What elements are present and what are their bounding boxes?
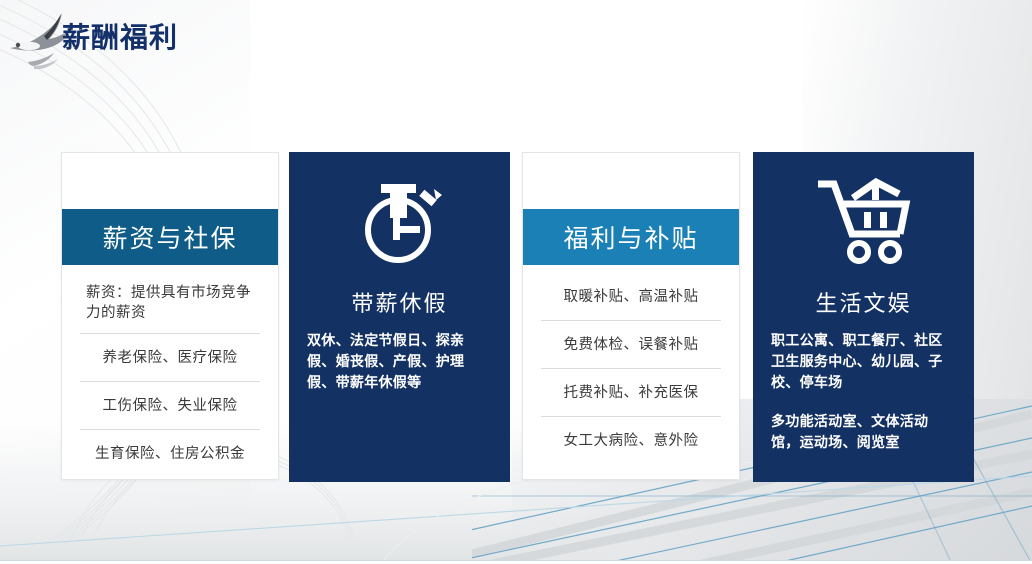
card-paragraph: 双休、法定节假日、探亲假、婚丧假、产假、护理假、带薪年休假等 (307, 330, 492, 393)
card-benefits-subsidies[interactable]: 福利与补贴 取暖补贴、高温补贴 免费体检、误餐补贴 托费补贴、补充医保 女工大病… (522, 152, 740, 480)
card-header-benefits: 福利与补贴 (523, 209, 739, 265)
cards-row: 薪资与社保 薪资：提供具有市场竞争力的薪资 养老保险、医疗保险 工伤保险、失业保… (0, 0, 1032, 564)
list-item: 生育保险、住房公积金 (80, 430, 260, 477)
list-item: 免费体检、误餐补贴 (541, 321, 721, 369)
card-title-paid-leave: 带薪休假 (289, 286, 510, 318)
shopping-cart-icon-wrap (753, 174, 974, 270)
card-life-culture[interactable]: 生活文娱 职工公寓、职工餐厅、社区卫生服务中心、幼儿园、子校、停车场 多功能活动… (753, 152, 974, 482)
list-item: 取暖补贴、高温补贴 (541, 273, 721, 321)
stopwatch-icon (352, 174, 448, 270)
slide-canvas: 薪酬福利 薪资与社保 薪资：提供具有市场竞争力的薪资 养老保险、医疗保险 工伤保… (0, 0, 1032, 564)
shopping-cart-icon (814, 174, 914, 270)
page-title: 薪酬福利 (62, 16, 178, 56)
card-body-life-culture: 职工公寓、职工餐厅、社区卫生服务中心、幼儿园、子校、停车场 多功能活动室、文体活… (753, 330, 974, 453)
list-item: 养老保险、医疗保险 (80, 334, 260, 382)
card-body-paid-leave: 双休、法定节假日、探亲假、婚丧假、产假、护理假、带薪年休假等 (289, 330, 510, 393)
card-header-salary: 薪资与社保 (62, 209, 278, 265)
card-paragraph: 多功能活动室、文体活动馆，运动场、阅览室 (771, 411, 956, 453)
card-list-benefits: 取暖补贴、高温补贴 免费体检、误餐补贴 托费补贴、补充医保 女工大病险、意外险 (523, 273, 739, 464)
card-paid-leave[interactable]: 带薪休假 双休、法定节假日、探亲假、婚丧假、产假、护理假、带薪年休假等 (289, 152, 510, 482)
list-item: 女工大病险、意外险 (541, 417, 721, 464)
card-title-life-culture: 生活文娱 (753, 286, 974, 318)
card-paragraph: 职工公寓、职工餐厅、社区卫生服务中心、幼儿园、子校、停车场 (771, 330, 956, 393)
stopwatch-icon-wrap (289, 174, 510, 270)
list-item: 薪资：提供具有市场竞争力的薪资 (80, 273, 260, 334)
list-item: 工伤保险、失业保险 (80, 382, 260, 430)
card-list-salary: 薪资：提供具有市场竞争力的薪资 养老保险、医疗保险 工伤保险、失业保险 生育保险… (62, 273, 278, 477)
card-salary-social-insurance[interactable]: 薪资与社保 薪资：提供具有市场竞争力的薪资 养老保险、医疗保险 工伤保险、失业保… (61, 152, 279, 480)
list-item: 托费补贴、补充医保 (541, 369, 721, 417)
